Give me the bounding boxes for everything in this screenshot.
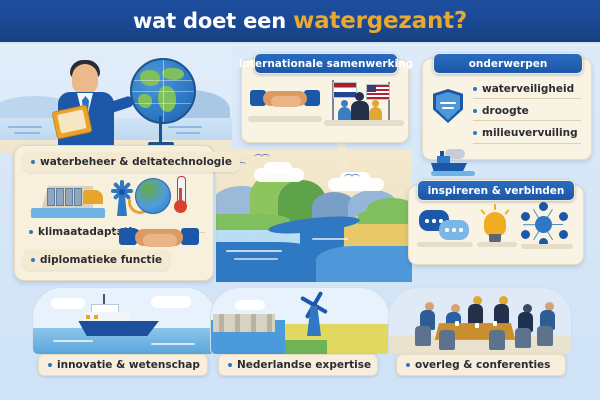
flag-usa-icon xyxy=(366,84,390,100)
divider-line xyxy=(473,98,581,99)
bullet-diplomatieke-functie: diplomatieke functie xyxy=(23,250,170,270)
cup-icon xyxy=(455,321,459,326)
shield-water-icon xyxy=(433,89,463,123)
field-shape xyxy=(327,330,389,354)
bottom-card-overleg: overleg & conferenties xyxy=(388,287,570,385)
cf-chair xyxy=(415,326,431,346)
bird-icon xyxy=(254,154,263,160)
person-body xyxy=(369,107,382,121)
onderwerpen-panel: onderwerpen waterveiligheid droogte mili… xyxy=(422,58,592,160)
bullet-label: droogte xyxy=(482,105,529,117)
inspireren-verbinden-panel: inspireren & verbinden xyxy=(408,185,584,265)
card-label: overleg & conferenties xyxy=(415,359,550,371)
bullet-label: waterbeheer & deltatechnologie xyxy=(40,156,232,168)
watergezant-illustration xyxy=(0,44,232,154)
bullet-dot-icon xyxy=(31,258,35,262)
shadow-ellipse xyxy=(417,242,473,247)
person-head xyxy=(372,100,379,107)
cargo-ship-pollution-icon xyxy=(431,151,471,175)
shadow-ellipse xyxy=(477,242,517,247)
panel-heading-inspireren: inspireren & verbinden xyxy=(417,180,575,201)
panel-heading-samenwerking: internationale samenwerking xyxy=(254,53,398,74)
network-center-node xyxy=(535,216,552,233)
ship-water xyxy=(431,171,475,176)
card-label: innovatie & wetenschap xyxy=(57,359,200,371)
folder-page xyxy=(57,110,86,134)
parallel-line xyxy=(132,91,194,92)
conference-table-icon xyxy=(388,287,572,355)
bullet-droogte: droogte xyxy=(473,105,529,117)
dam-water xyxy=(31,208,105,218)
wave-line xyxy=(8,126,42,128)
page-title: wat doet een watergezant? xyxy=(133,8,467,34)
dam-pillar xyxy=(235,314,240,332)
bullet-dot-icon xyxy=(473,109,477,113)
bullet-dot-icon xyxy=(473,87,477,91)
bullet-label: waterveiligheid xyxy=(482,83,574,95)
bullet-waterveiligheid: waterveiligheid xyxy=(473,83,574,95)
handshake-icon xyxy=(250,88,320,116)
delegation-figures-icon xyxy=(326,80,404,124)
dam-gate xyxy=(56,188,64,206)
wave-line xyxy=(442,107,454,109)
cloud-shape xyxy=(51,298,85,309)
bullet-dot-icon xyxy=(29,230,33,234)
cup-icon xyxy=(475,323,479,328)
divider-line xyxy=(473,120,581,121)
bullet-label: diplomatieke functie xyxy=(40,254,162,266)
person-body xyxy=(338,107,351,121)
infographic-canvas: wat doet een watergezant? xyxy=(0,0,600,400)
cloud-shape xyxy=(151,296,191,308)
globe-sphere xyxy=(130,58,196,124)
bulb-ray xyxy=(480,209,485,215)
dam-pillar xyxy=(219,314,224,332)
shield-inner xyxy=(436,92,460,120)
mini-globe-icon xyxy=(135,178,171,214)
bullet-dot-icon xyxy=(228,363,232,367)
wave-line xyxy=(234,258,278,260)
hand-shape xyxy=(271,96,301,107)
bullet-label: milieuvervuiling xyxy=(482,127,578,139)
cf-chair xyxy=(439,330,455,350)
bird-icon xyxy=(344,174,353,180)
header-bar: wat doet een watergezant? xyxy=(0,0,600,42)
businessman-figure xyxy=(52,56,124,154)
panel-heading-onderwerpen: onderwerpen xyxy=(433,53,583,74)
bullet-dot-icon xyxy=(48,363,52,367)
bullet-dot-icon xyxy=(31,160,35,164)
shadow-ellipse xyxy=(521,244,573,249)
label-overleg-conferenties: overleg & conferenties xyxy=(396,354,566,376)
internationale-samenwerking-panel: internationale samenwerking xyxy=(241,59,409,143)
header-underline xyxy=(0,42,600,46)
dam-pillar xyxy=(251,314,256,332)
arrow-stem xyxy=(337,140,346,168)
globe-stand xyxy=(159,116,162,144)
river-delta-landscape xyxy=(216,150,412,282)
person-body xyxy=(351,101,369,121)
person-head xyxy=(355,92,364,101)
river-body xyxy=(316,246,412,282)
wave-line xyxy=(53,340,93,342)
bullet-dot-icon xyxy=(406,363,410,367)
landmass xyxy=(162,68,184,80)
parallel-line xyxy=(132,80,194,81)
cuff-shape xyxy=(181,228,199,245)
card-label: Nederlandse expertise xyxy=(237,359,371,371)
title-plain-part: wat doet een xyxy=(133,9,293,33)
cf-chair xyxy=(515,328,531,348)
bottom-card-innovatie: innovatie & wetenschap xyxy=(32,287,214,385)
cup-icon xyxy=(493,321,497,326)
cf-chair xyxy=(537,326,553,346)
speech-bubble-secondary xyxy=(439,220,469,240)
dam-icon xyxy=(31,182,105,218)
right-bank-green xyxy=(358,208,412,224)
bubble-dot xyxy=(459,228,463,232)
parallel-line xyxy=(132,103,194,104)
skyline-building xyxy=(214,99,221,118)
bubble-dot xyxy=(432,219,436,223)
bubble-dot xyxy=(445,228,449,232)
shadow-ellipse xyxy=(248,116,322,122)
head-shape xyxy=(72,64,98,94)
dam-gate xyxy=(47,188,55,206)
network-node xyxy=(559,212,568,221)
bullet-dot-icon xyxy=(473,131,477,135)
divider-line xyxy=(473,143,581,144)
cf-person xyxy=(468,304,483,324)
bottom-card-expertise: Nederlandse expertise xyxy=(210,287,388,385)
network-node xyxy=(521,230,530,239)
dam-building xyxy=(83,190,103,204)
bulb-glass xyxy=(484,212,506,236)
ship-cabin xyxy=(437,156,450,164)
hand-shape xyxy=(143,234,177,247)
skyline-building xyxy=(204,94,210,118)
bullet-milieuvervuiling: milieuvervuiling xyxy=(473,127,578,139)
title-accent-part: watergezant? xyxy=(293,8,467,34)
wave-line xyxy=(440,102,456,104)
network-node xyxy=(539,202,548,211)
shadow-ellipse xyxy=(324,120,404,126)
globe-on-stand xyxy=(126,58,196,146)
bubble-dot xyxy=(452,228,456,232)
lightbulb-icon xyxy=(477,204,515,246)
thermometer-icon xyxy=(174,176,186,216)
cloud-shape xyxy=(264,162,292,174)
cloud-shape xyxy=(235,300,265,310)
thermometer-bulb xyxy=(174,200,187,213)
network-nodes-icon xyxy=(521,202,575,248)
wave-line xyxy=(14,132,40,134)
flag-netherlands-icon xyxy=(333,82,357,98)
landmass xyxy=(158,86,176,112)
boat-window xyxy=(86,315,90,319)
landmass xyxy=(140,70,160,86)
landmass xyxy=(138,94,152,108)
network-node xyxy=(521,212,530,221)
cf-chair xyxy=(489,330,505,350)
network-node xyxy=(559,230,568,239)
speech-bubbles-icon xyxy=(419,208,471,244)
wave-line xyxy=(151,343,195,345)
dam-gate xyxy=(74,188,82,206)
label-nederlandse-expertise: Nederlandse expertise xyxy=(218,354,378,376)
label-innovatie-wetenschap: innovatie & wetenschap xyxy=(38,354,208,376)
bubble-dot xyxy=(425,219,429,223)
boat-hull xyxy=(75,321,159,336)
person-head xyxy=(341,100,348,107)
bulb-ray xyxy=(494,204,496,210)
wave-line xyxy=(226,250,282,252)
wave-line xyxy=(312,238,348,240)
rol-card: waterbeheer & deltatechnologie xyxy=(14,145,214,281)
boat-window xyxy=(94,315,98,319)
dam-pillar xyxy=(267,314,272,332)
bullet-waterbeheer: waterbeheer & deltatechnologie xyxy=(23,152,240,172)
bulb-ray xyxy=(504,209,509,215)
dam-gate xyxy=(65,188,73,206)
windmill-hub xyxy=(119,189,125,195)
research-vessel-icon xyxy=(32,287,216,355)
dam-windmill-icon xyxy=(210,287,390,355)
